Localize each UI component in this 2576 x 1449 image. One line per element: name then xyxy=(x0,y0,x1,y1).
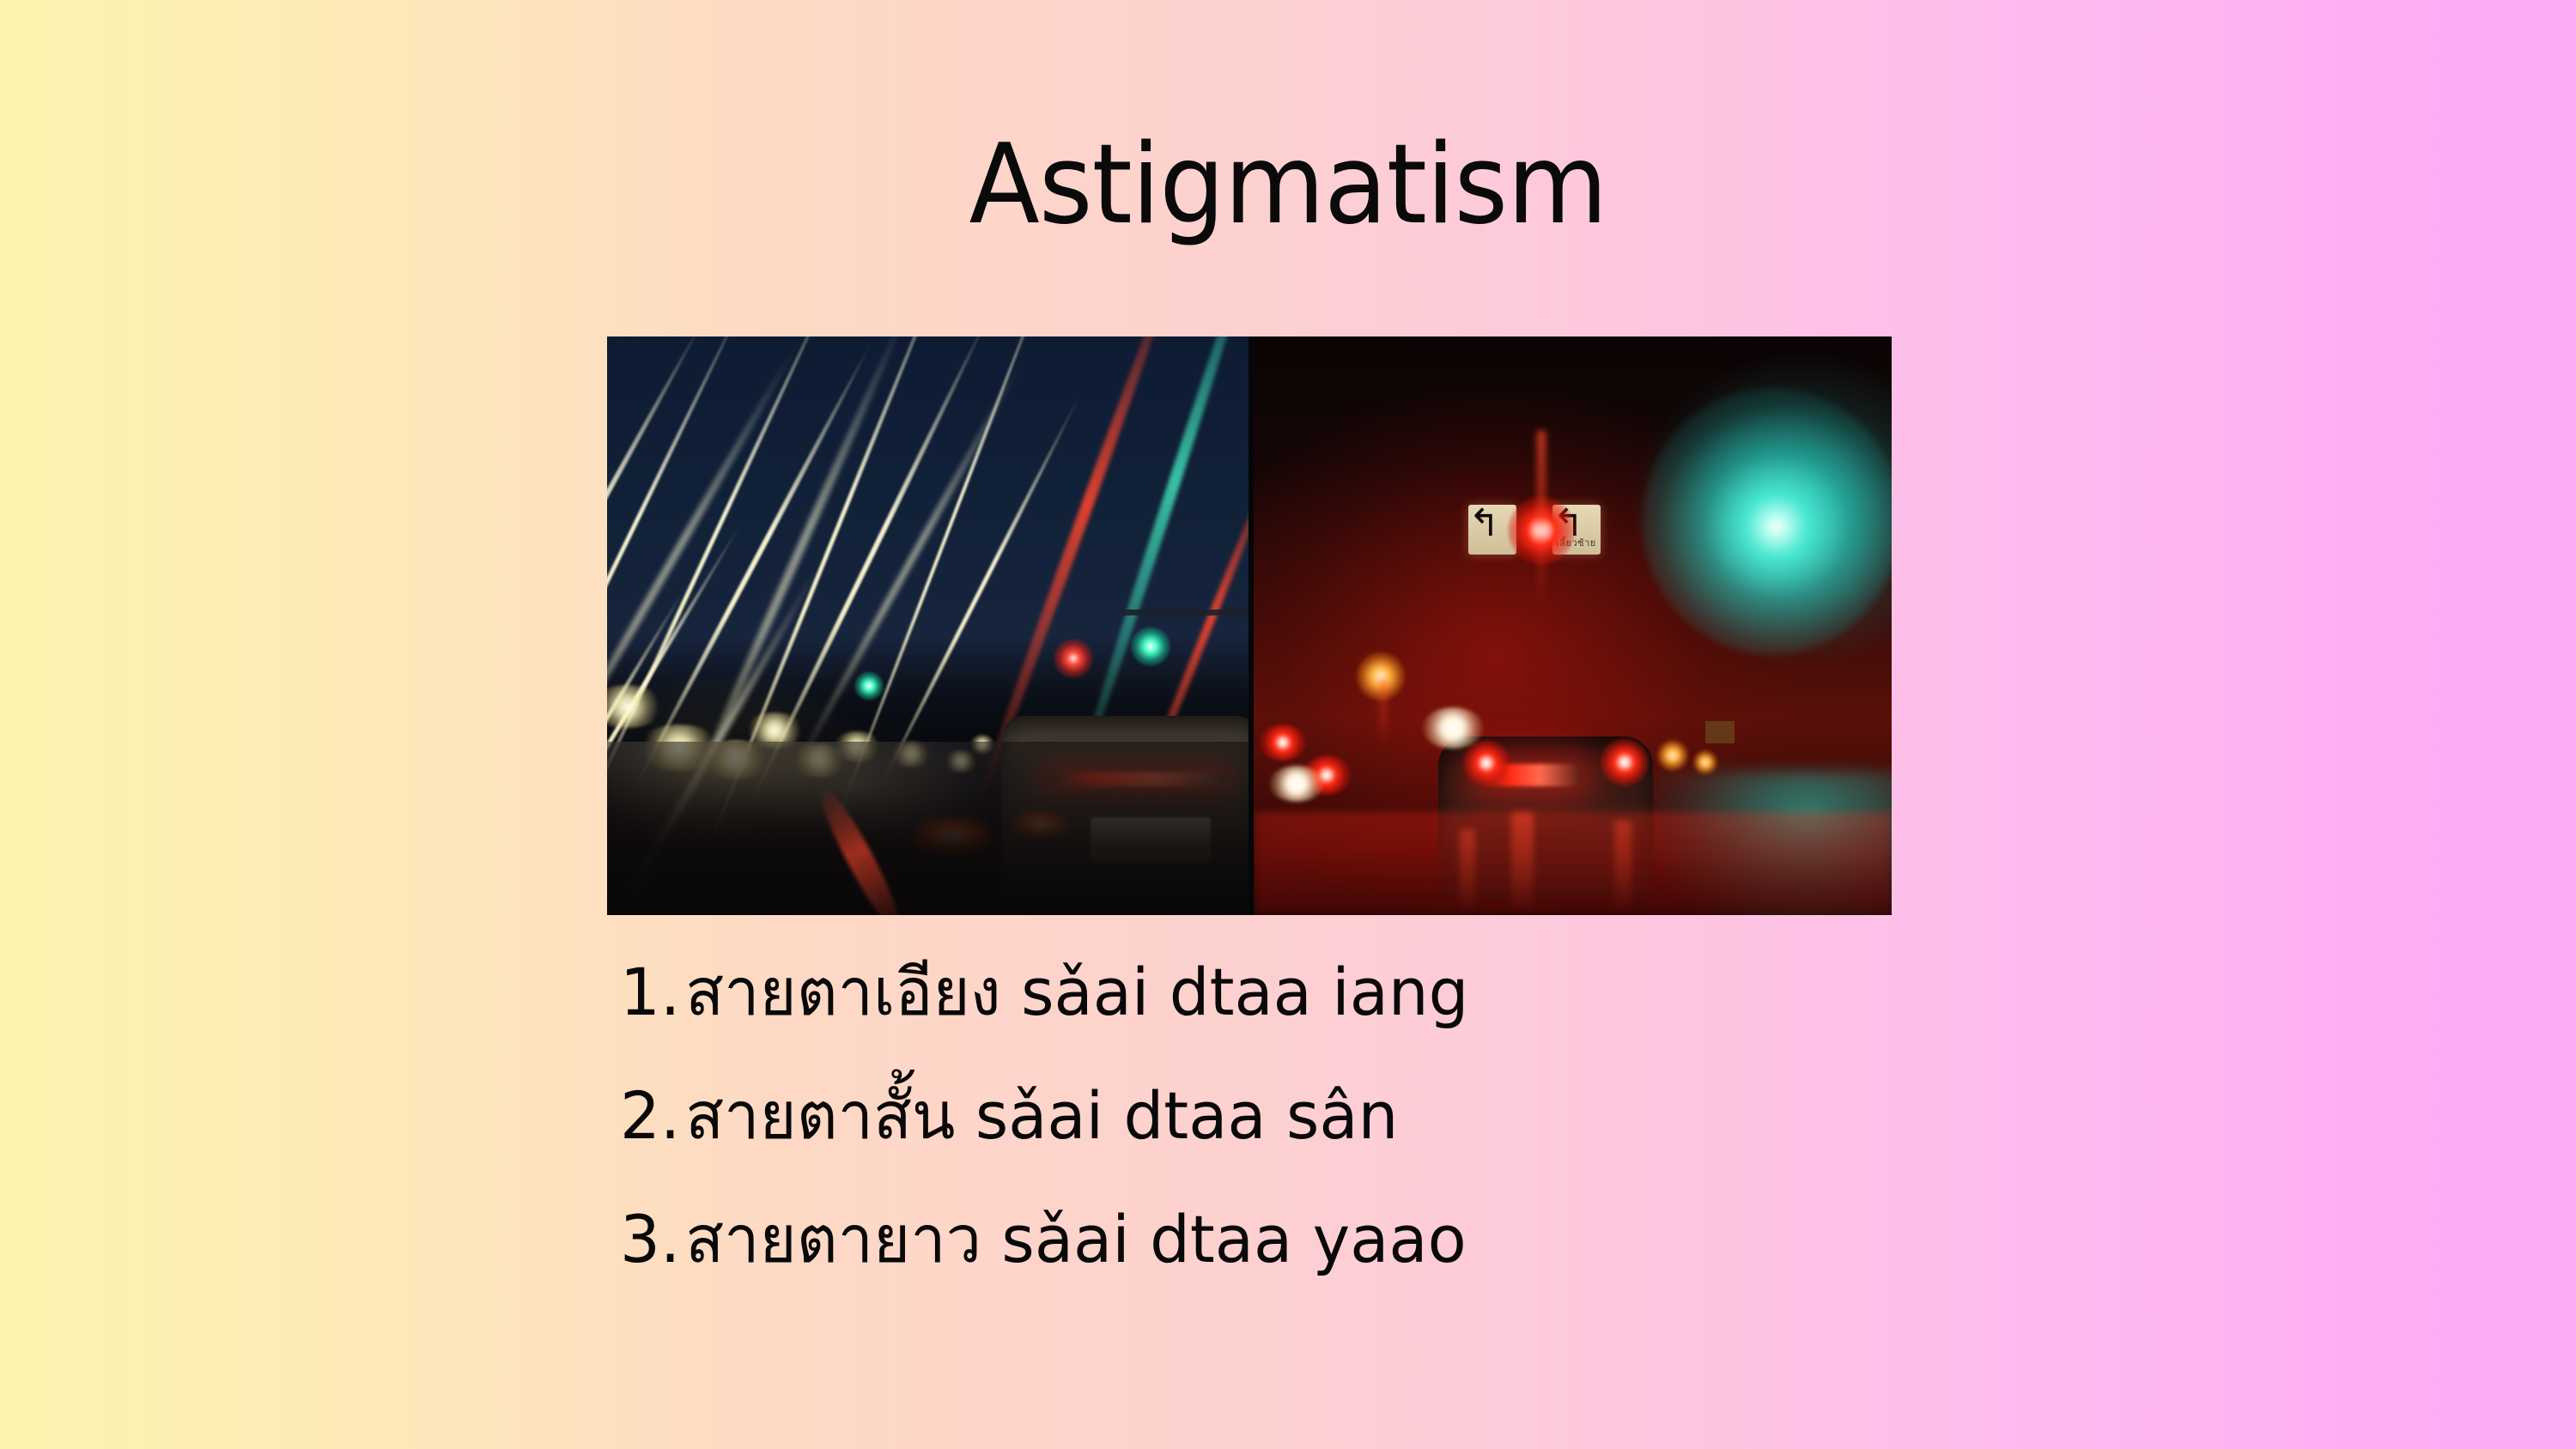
list-item-number: 1. xyxy=(620,960,680,1025)
tail-lamp xyxy=(1601,738,1649,786)
page-title: Astigmatism xyxy=(77,130,2499,240)
list-item: 2. สายตาสั้น sǎai dtaa sân xyxy=(620,1083,1953,1149)
list-item: 3. สายตายาว sǎai dtaa yaao xyxy=(620,1207,1953,1272)
tail-lamp xyxy=(1463,740,1510,786)
red-traffic-signal xyxy=(1054,639,1093,678)
list-item-label: สายตาสั้น sǎai dtaa sân xyxy=(685,1083,1398,1149)
green-traffic-signal xyxy=(1131,627,1170,666)
oncoming-headlight xyxy=(1422,707,1484,749)
photo-pair: ↰ ↰ เลี้ยวซ้าย xyxy=(607,336,1892,915)
teal-glare-blob xyxy=(1643,388,1892,654)
list-item-number: 2. xyxy=(620,1083,680,1149)
tail-lamp xyxy=(1259,724,1307,761)
road-red-reflection xyxy=(1460,829,1475,915)
red-signal-flare xyxy=(1537,431,1546,611)
road-red-reflection xyxy=(1614,821,1631,915)
terms-list: 1. สายตาเอียง sǎai dtaa iang 2. สายตาสั้… xyxy=(620,960,1994,1331)
rainy-night-red-glare-photo: ↰ ↰ เลี้ยวซ้าย xyxy=(1254,336,1892,915)
list-item: 1. สายตาเอียง sǎai dtaa iang xyxy=(620,960,1953,1025)
list-item-label: สายตายาว sǎai dtaa yaao xyxy=(685,1207,1467,1272)
distant-lamp xyxy=(1657,740,1688,771)
wet-road-reflection xyxy=(1254,812,1892,915)
distant-lamp xyxy=(1693,750,1717,774)
street-lamp-flare xyxy=(1379,680,1388,749)
list-item-number: 3. xyxy=(620,1207,680,1272)
roadside-sign xyxy=(1705,721,1735,743)
list-item-label: สายตาเอียง sǎai dtaa iang xyxy=(685,960,1468,1025)
oncoming-headlight xyxy=(1269,766,1324,802)
distant-green-signal xyxy=(854,671,884,700)
slide-canvas: Astigmatism xyxy=(0,0,2576,1449)
signal-gantry xyxy=(1122,609,1249,615)
road-surface xyxy=(607,742,1249,915)
road-red-reflection xyxy=(1511,812,1534,915)
left-turn-arrow-icon: ↰ xyxy=(1468,505,1500,543)
night-traffic-starburst-photo xyxy=(607,336,1249,915)
